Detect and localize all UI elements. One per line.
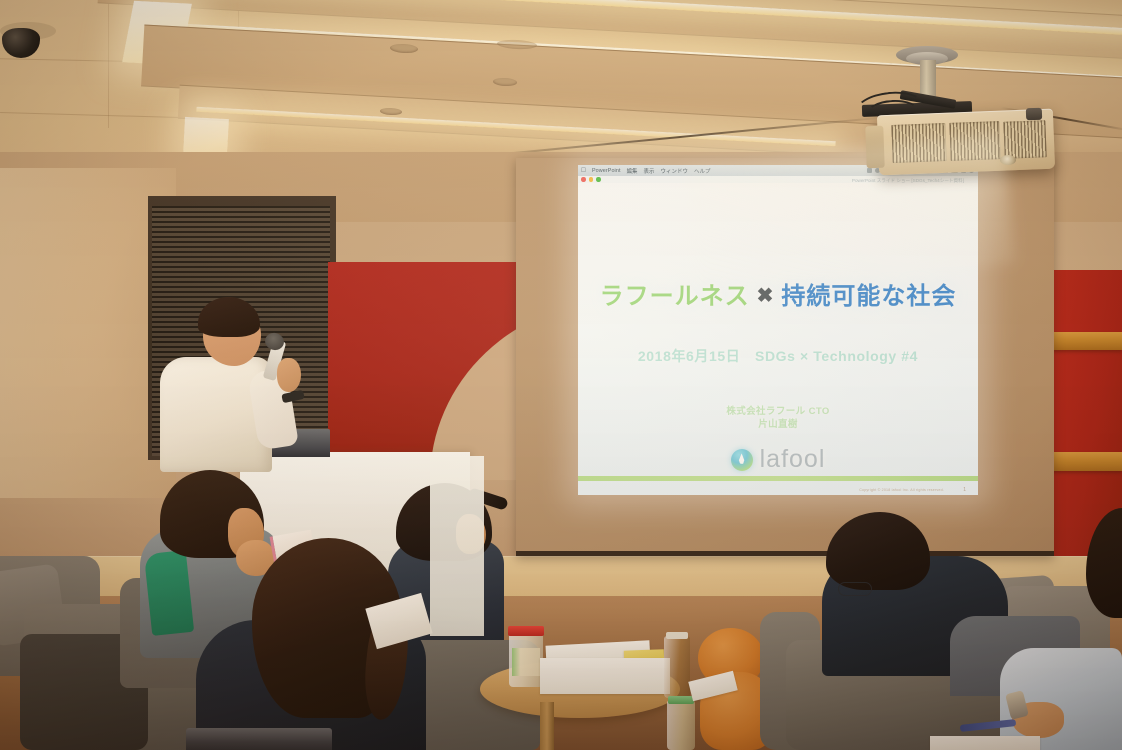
thermos-label: [512, 648, 540, 676]
table-leg: [540, 702, 554, 750]
menu-item-view[interactable]: 表示: [644, 167, 655, 175]
wall-shelf-ledge: [1044, 332, 1122, 350]
water-bottle-cap: [666, 632, 688, 639]
projector-vent: [1003, 120, 1046, 159]
presenter-name: 片山直樹: [578, 419, 978, 432]
lafool-droplet-icon: [731, 449, 753, 471]
handout-papers: [540, 658, 670, 694]
water-bottle: [664, 636, 690, 698]
eyeglasses-icon: [838, 582, 872, 596]
apple-icon[interactable]: : [581, 167, 586, 174]
slide-title-right: 持続可能な社会: [781, 283, 956, 310]
water-bottle-cap: [668, 696, 694, 704]
projector-knob: [1026, 108, 1042, 121]
close-icon[interactable]: [581, 177, 586, 182]
wall-panel-white: [430, 456, 484, 636]
window-traffic-lights[interactable]: [581, 177, 601, 182]
slide-logo: lafool: [578, 445, 978, 474]
handout-papers: [930, 736, 1040, 750]
wall-shelf-ledge: [1044, 452, 1122, 471]
presenter-hand: [277, 358, 301, 392]
laptop: [186, 728, 332, 750]
water-bottle: [667, 700, 695, 750]
conference-room-photo:  PowerPoint 編集 表示 ウィンドウ ヘルプ: [0, 0, 1122, 750]
slide-footer-text: Copyright © 2018 lafool Inc. All rights …: [859, 488, 944, 492]
slide-subtitle: 2018年6月15日 SDGs × Technology #4: [578, 346, 978, 366]
ceiling-tile-seam: [108, 0, 109, 128]
minimize-icon[interactable]: [589, 177, 594, 182]
thermos-cap: [508, 626, 544, 636]
menu-item-edit[interactable]: 編集: [627, 167, 638, 175]
slide-page-number: 1: [963, 487, 966, 493]
slide-accent-bar: [578, 476, 978, 481]
presenter-org: 株式会社ラフール CTO: [578, 406, 978, 419]
slide-presenter-block: 株式会社ラフール CTO 片山直樹: [578, 406, 978, 432]
zoom-icon[interactable]: [596, 177, 601, 182]
lafool-wordmark: lafool: [760, 445, 826, 474]
menu-item-powerpoint[interactable]: PowerPoint: [592, 168, 621, 174]
audience-green-shirt: [144, 550, 194, 636]
